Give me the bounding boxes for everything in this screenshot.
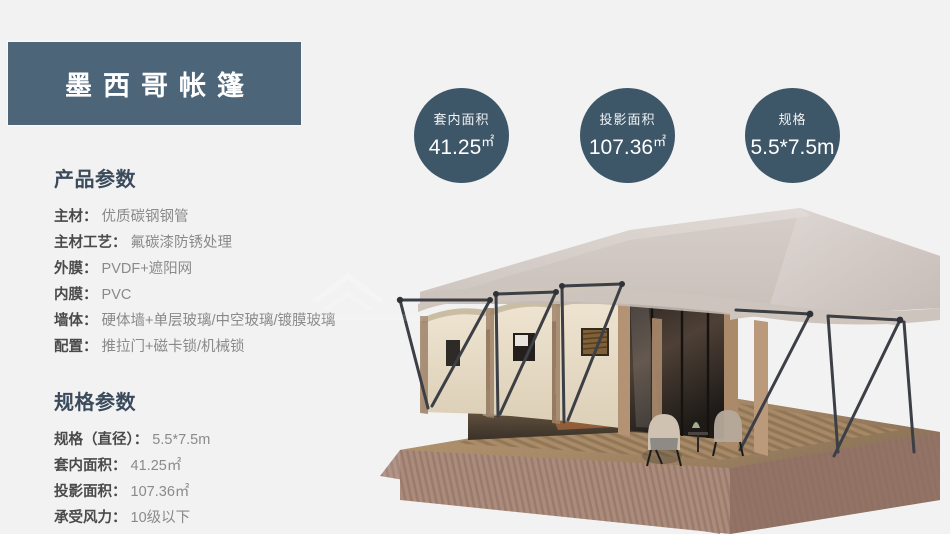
- badge-value: 5.5*7.5m: [750, 135, 834, 158]
- spec-value: PVDF+遮阳网: [102, 261, 193, 277]
- badge-label: 投影面积: [599, 113, 655, 126]
- spec-key: 外膜：: [54, 261, 98, 277]
- tent-render-image: [300, 200, 950, 534]
- badge-label: 套内面积: [433, 113, 489, 126]
- spec-value: 5.5*7.5m: [152, 432, 210, 448]
- spec-value: 107.36㎡: [131, 484, 190, 500]
- wall-window-reflection: [515, 335, 528, 346]
- spec-key: 套内面积：: [54, 458, 127, 474]
- spec-key: 主材工艺：: [54, 235, 127, 251]
- spec-value: 氟碳漆防锈处理: [131, 235, 233, 251]
- spec-value: 推拉门+磁卡锁/机械锁: [102, 339, 245, 355]
- spec-key: 承受风力：: [54, 510, 127, 526]
- spec-key: 配置：: [54, 339, 98, 355]
- badge-value: 41.25㎡: [429, 135, 495, 158]
- wall-window: [446, 340, 460, 366]
- title-banner: 墨西哥帐篷: [8, 42, 301, 125]
- spec-value: 10级以下: [131, 510, 191, 526]
- badge-label: 规格: [778, 113, 806, 126]
- tent-pagoda-watermark-icon: [300, 262, 440, 322]
- spec-value: 41.25㎡: [131, 458, 182, 474]
- spec-key: 投影面积：: [54, 484, 127, 500]
- roof-right-panel: [770, 208, 940, 318]
- spec-key: 墙体：: [54, 313, 98, 329]
- badge-specification[interactable]: 规格 5.5*7.5m: [745, 88, 840, 183]
- spec-key: 内膜：: [54, 287, 98, 303]
- badge-projected-area[interactable]: 投影面积 107.36㎡: [580, 88, 675, 183]
- page-title: 墨西哥帐篷: [54, 64, 255, 103]
- badge-interior-area[interactable]: 套内面积 41.25㎡: [414, 88, 509, 183]
- spec-value: 优质碳钢钢管: [102, 209, 189, 225]
- spec-key: 主材：: [54, 209, 98, 225]
- badge-value: 107.36㎡: [589, 135, 666, 158]
- spec-value: PVC: [102, 287, 132, 303]
- section-heading-product: 产品参数: [54, 163, 384, 192]
- spec-key: 规格（直径）：: [54, 432, 148, 448]
